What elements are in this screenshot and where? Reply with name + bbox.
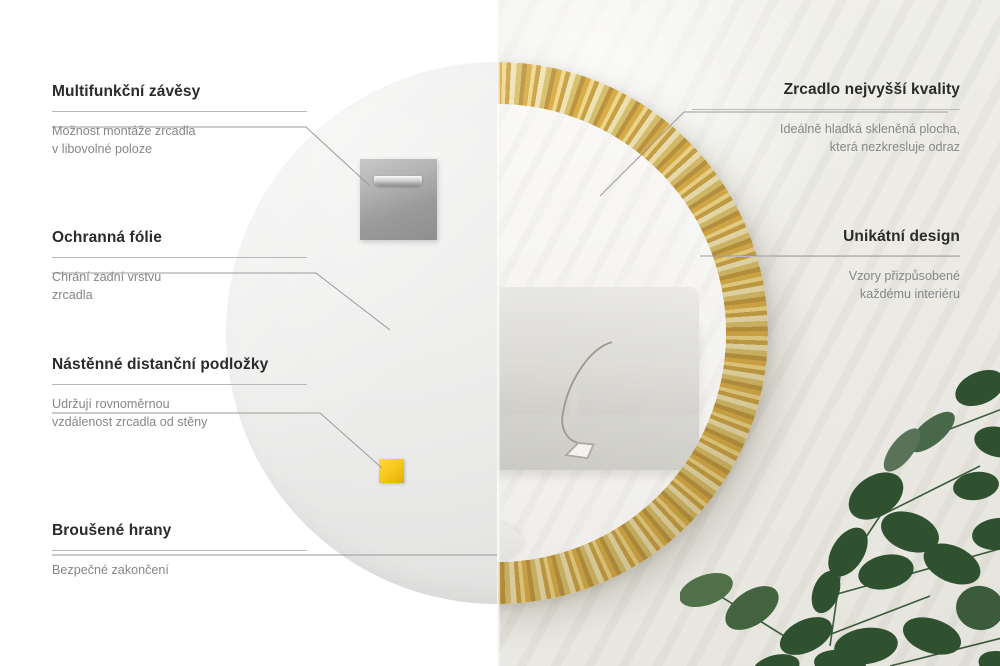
panel-divider xyxy=(497,0,500,666)
callout-desc-line2: vzdálenost zrcadla od stěny xyxy=(52,413,307,431)
callout-title: Zrcadlo nejvyšší kvality xyxy=(692,80,960,100)
callout-multifunkcni-zavesy: Multifunkční závěsy Možnost montáže zrca… xyxy=(52,82,307,158)
callout-brousene-hrany: Broušené hrany Bezpečné zakončení xyxy=(52,521,307,579)
callout-desc-line1: Vzory přizpůsobené xyxy=(730,267,960,285)
callout-unikatni-design: Unikátní design Vzory přizpůsobené každé… xyxy=(730,227,960,303)
callout-desc-line1: Udržují rovnoměrnou xyxy=(52,395,307,413)
callout-desc-line1: Chrání zadní vrstvu xyxy=(52,268,307,286)
callout-rule xyxy=(52,550,307,551)
callout-rule xyxy=(52,257,307,258)
callout-rule xyxy=(730,256,960,257)
callout-desc-line2: v libovolné poloze xyxy=(52,140,307,158)
callout-rule xyxy=(52,384,307,385)
callout-rule xyxy=(52,111,307,112)
callout-desc-line1: Ideálně hladká skleněná plocha, xyxy=(692,120,960,138)
callout-title: Broušené hrany xyxy=(52,521,307,541)
callout-desc-line1: Možnost montáže zrcadla xyxy=(52,122,307,140)
callout-rule xyxy=(692,109,960,110)
hanger-slot xyxy=(374,176,422,186)
callout-zrcadlo-nejvyssi-kvality: Zrcadlo nejvyšší kvality Ideálně hladká … xyxy=(692,80,960,156)
callout-desc-line2: každému interiéru xyxy=(730,285,960,303)
callout-title: Multifunkční závěsy xyxy=(52,82,307,102)
callout-nastenne-distancni-podlozky: Nástěnné distanční podložky Udržují rovn… xyxy=(52,355,307,431)
hanger-plate-part xyxy=(360,159,437,240)
callout-desc-line2: která nezkresluje odraz xyxy=(692,138,960,156)
reflected-floor-lamp xyxy=(534,333,635,470)
callout-desc-line1: Bezpečné zakončení xyxy=(52,561,307,579)
callout-ochranna-folie: Ochranná fólie Chrání zadní vrstvu zrcad… xyxy=(52,228,307,304)
callout-title: Unikátní design xyxy=(730,227,960,247)
callout-desc-line2: zrcadla xyxy=(52,286,307,304)
spacer-pad-part xyxy=(379,459,404,483)
infographic-stage: Multifunkční závěsy Možnost montáže zrca… xyxy=(0,0,1000,666)
callout-title: Ochranná fólie xyxy=(52,228,307,248)
callout-title: Nástěnné distanční podložky xyxy=(52,355,307,375)
mirror-glass-surface xyxy=(497,104,726,562)
